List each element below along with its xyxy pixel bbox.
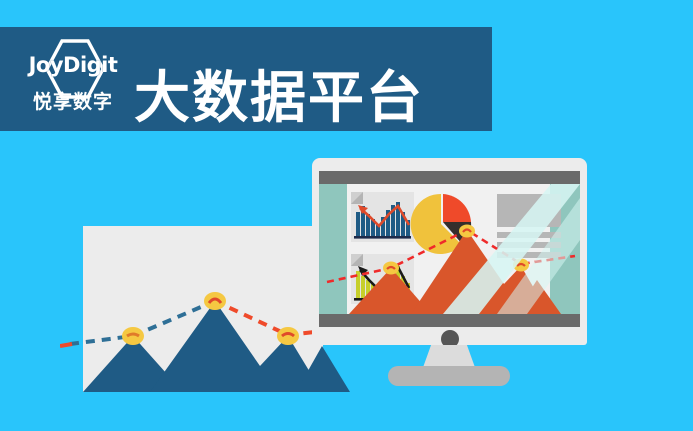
desktop-monitor [312, 158, 587, 345]
orange-area-chart-svg [319, 222, 580, 314]
monitor-bottom-bar [319, 314, 580, 327]
chart-marker-3 [277, 327, 299, 345]
orange-mountain-chart [319, 222, 580, 314]
area-marker-3 [513, 259, 529, 272]
logo-cn-text: 悦享数字 [18, 87, 128, 114]
chart-marker-1 [122, 327, 144, 345]
area-marker-1 [383, 262, 399, 275]
poster-canvas: JoyDigit 悦享数字 大数据平台 [0, 0, 693, 431]
mountain-line-chart-svg [60, 226, 350, 392]
monitor-screen [319, 184, 580, 314]
brand-logo: JoyDigit 悦享数字 [18, 35, 128, 123]
left-mountain-graphic [60, 226, 350, 392]
area-marker-2 [459, 225, 475, 238]
monitor-top-bar [319, 171, 580, 184]
header-banner: JoyDigit 悦享数字 大数据平台 [0, 27, 492, 131]
page-title: 大数据平台 [134, 71, 424, 127]
monitor-stand-base [388, 366, 510, 386]
logo-en-text: JoyDigit [18, 53, 128, 77]
chart-marker-2 [204, 292, 226, 310]
